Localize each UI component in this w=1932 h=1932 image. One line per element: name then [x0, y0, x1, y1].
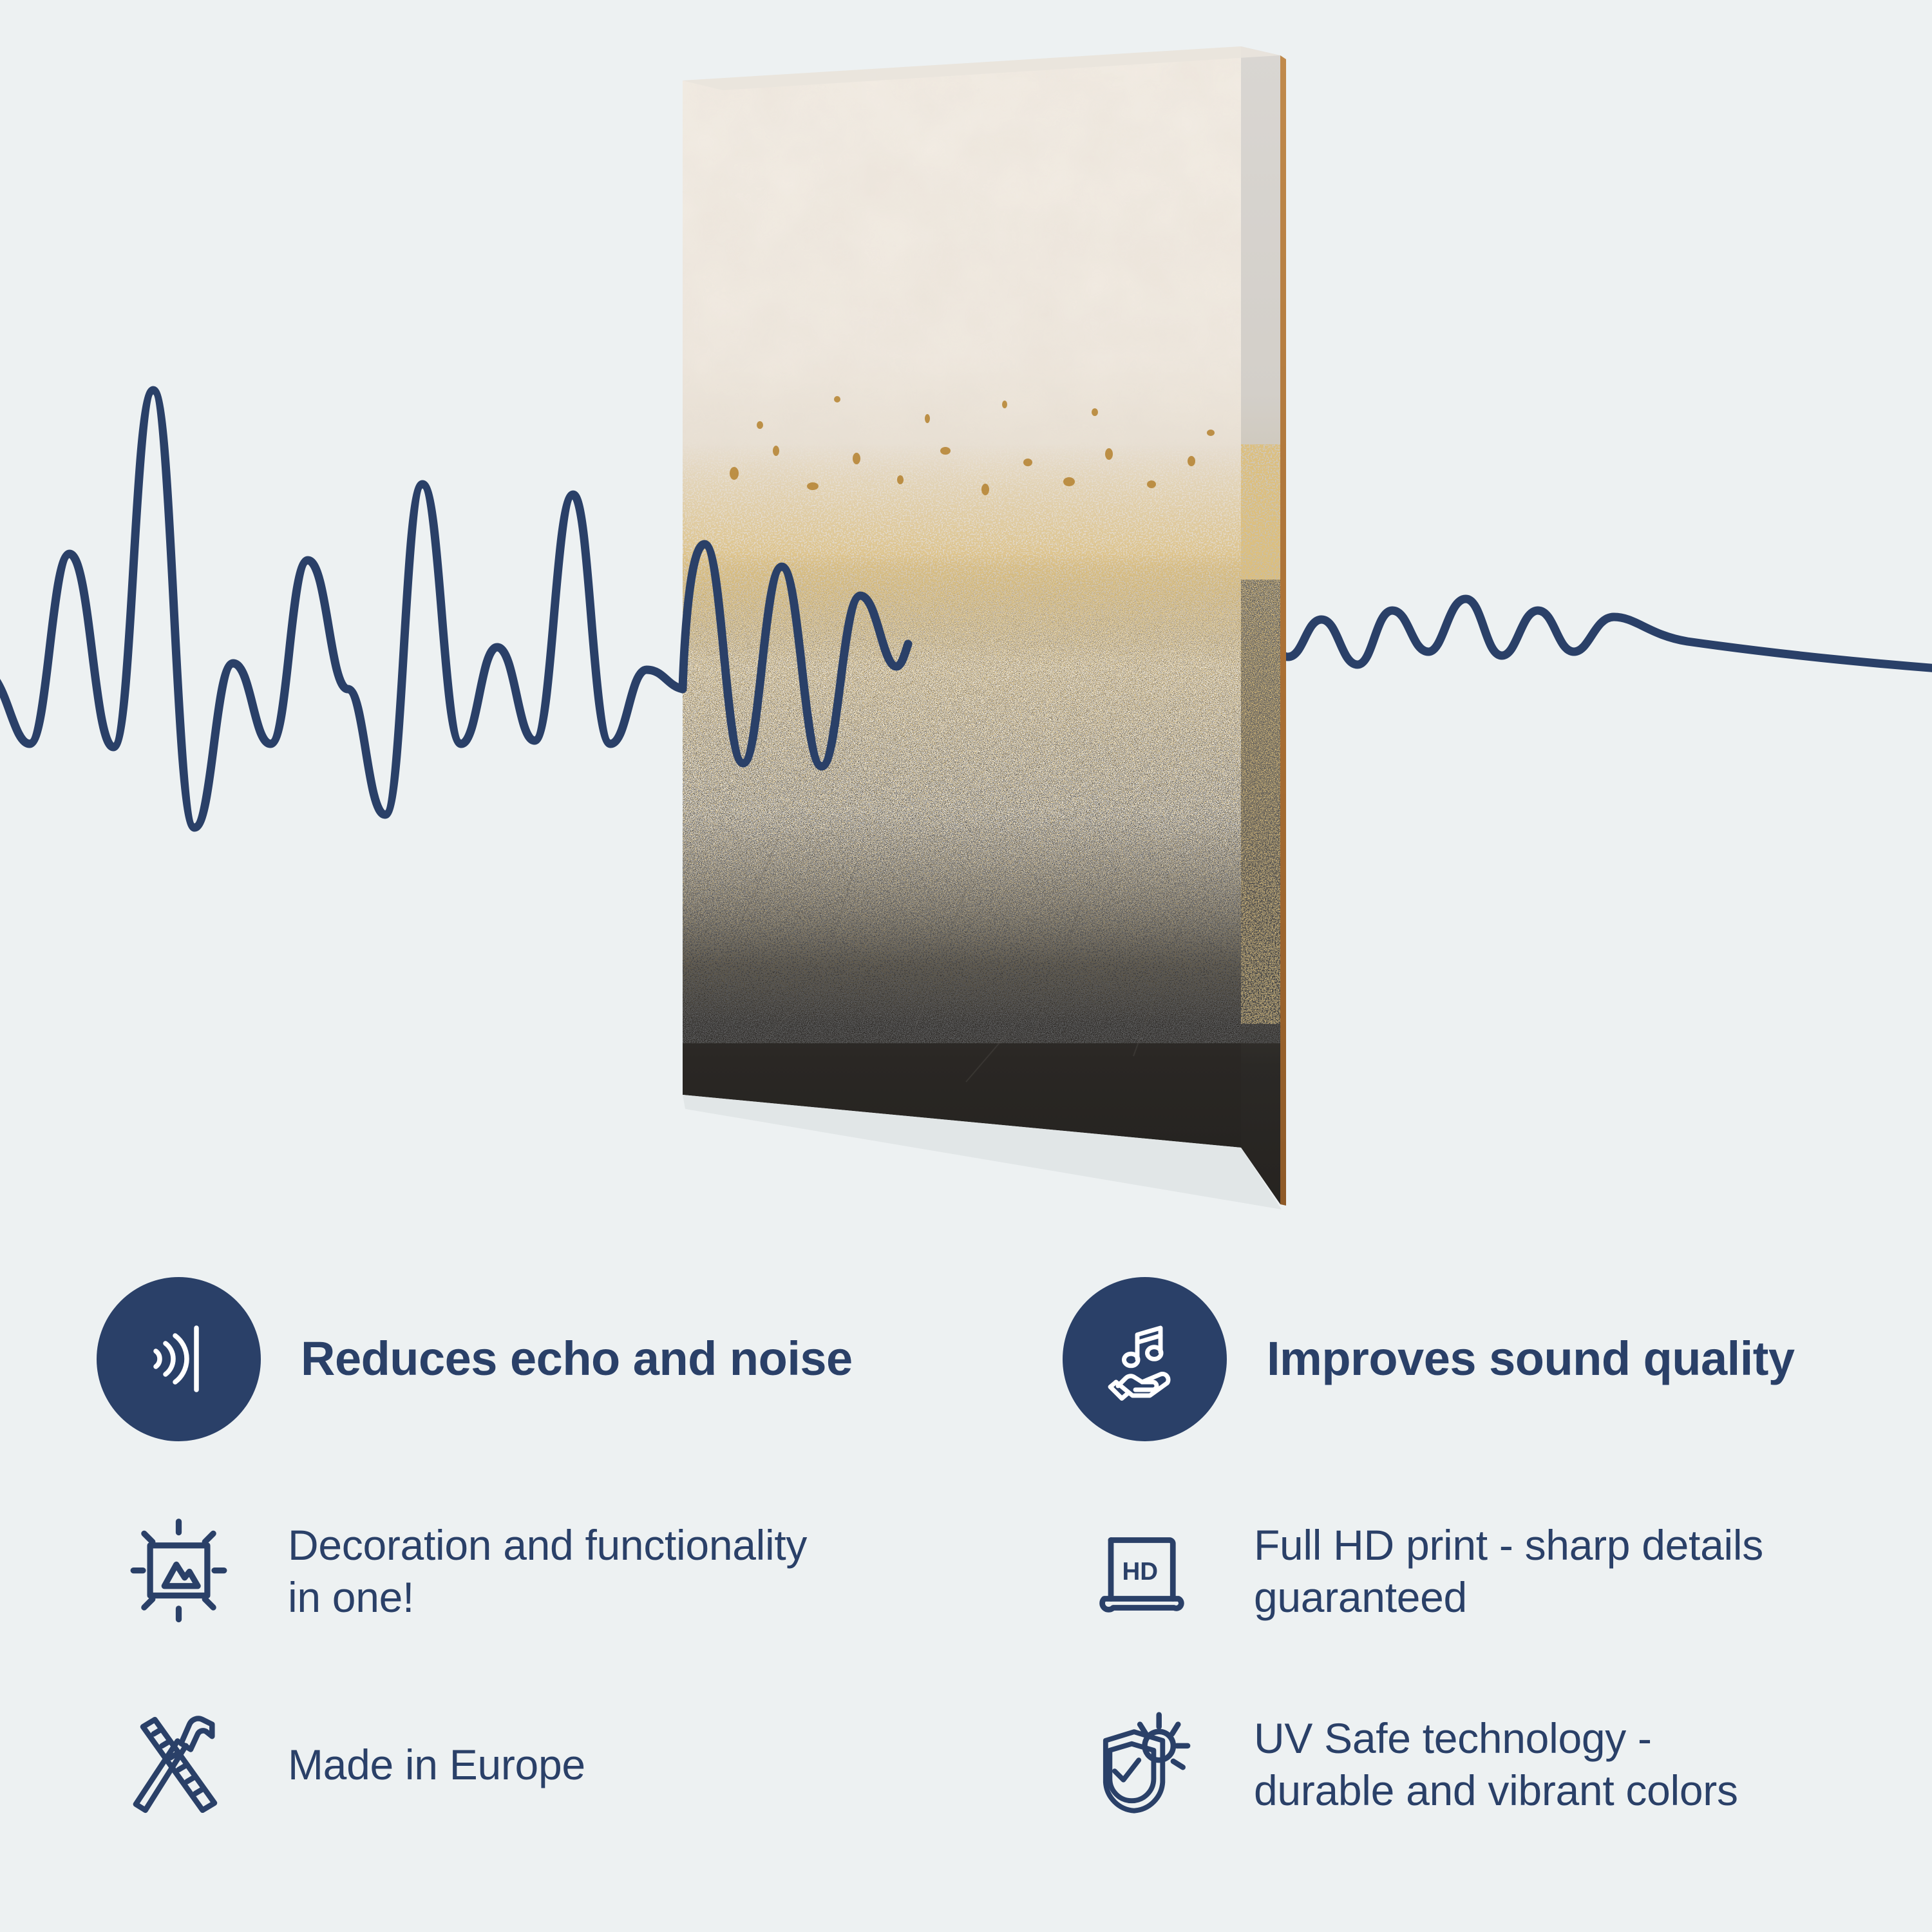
feature-line: in one! — [288, 1571, 807, 1624]
feature-label: Decoration and functionality in one! — [252, 1519, 807, 1623]
infographic-stage: Reduces echo and noise — [0, 0, 1932, 1932]
feature-line: Decoration and functionality — [288, 1519, 807, 1571]
canvas-front-face — [676, 39, 1256, 1172]
feature-label: Reduces echo and noise — [261, 1332, 853, 1385]
feature-label: Improves sound quality — [1227, 1332, 1795, 1385]
feature-decoration-functionality: Decoration and functionality in one! — [97, 1475, 1063, 1668]
feature-line: guaranteed — [1254, 1571, 1763, 1624]
shield-check-sun-icon — [1070, 1690, 1218, 1839]
feature-label: UV Safe technology - durable and vibrant… — [1218, 1712, 1738, 1816]
feature-icon-wrap — [1063, 1690, 1218, 1839]
feature-reduces-echo: Reduces echo and noise — [97, 1243, 1063, 1475]
feature-line: UV Safe technology - — [1254, 1712, 1738, 1765]
feature-label: Made in Europe — [252, 1739, 585, 1791]
sound-waves-absorbing-panel-icon — [97, 1277, 261, 1441]
feature-line: Made in Europe — [288, 1739, 585, 1791]
feature-full-hd-print: HD Full HD print - sharp details guarant… — [1063, 1475, 1874, 1668]
feature-icon-wrap — [97, 1277, 261, 1441]
feature-line: Improves sound quality — [1267, 1332, 1795, 1385]
hd-badge-text: HD — [1122, 1557, 1158, 1585]
feature-label: Full HD print - sharp details guaranteed — [1218, 1519, 1763, 1623]
ruler-and-hammer-icon — [104, 1690, 252, 1839]
hd-print-icon: HD — [1070, 1497, 1218, 1645]
feature-list: Reduces echo and noise — [97, 1243, 1874, 1861]
shining-picture-frame-icon — [104, 1497, 252, 1645]
feature-icon-wrap — [97, 1690, 252, 1839]
feature-line: Full HD print - sharp details — [1254, 1519, 1763, 1571]
feature-improves-sound: Improves sound quality — [1063, 1243, 1874, 1475]
feature-uv-safe: UV Safe technology - durable and vibrant… — [1063, 1668, 1874, 1861]
feature-icon-wrap: HD — [1063, 1497, 1218, 1645]
feature-icon-wrap — [97, 1497, 252, 1645]
canvas-side-face — [1236, 46, 1285, 1204]
canvas-wood-edge — [1280, 55, 1286, 1206]
hand-holding-music-note-icon — [1063, 1277, 1227, 1441]
feature-icon-wrap — [1063, 1277, 1227, 1441]
feature-line: Reduces echo and noise — [301, 1332, 853, 1385]
feature-made-in-europe: Made in Europe — [97, 1668, 1063, 1861]
feature-line: durable and vibrant colors — [1254, 1765, 1738, 1817]
